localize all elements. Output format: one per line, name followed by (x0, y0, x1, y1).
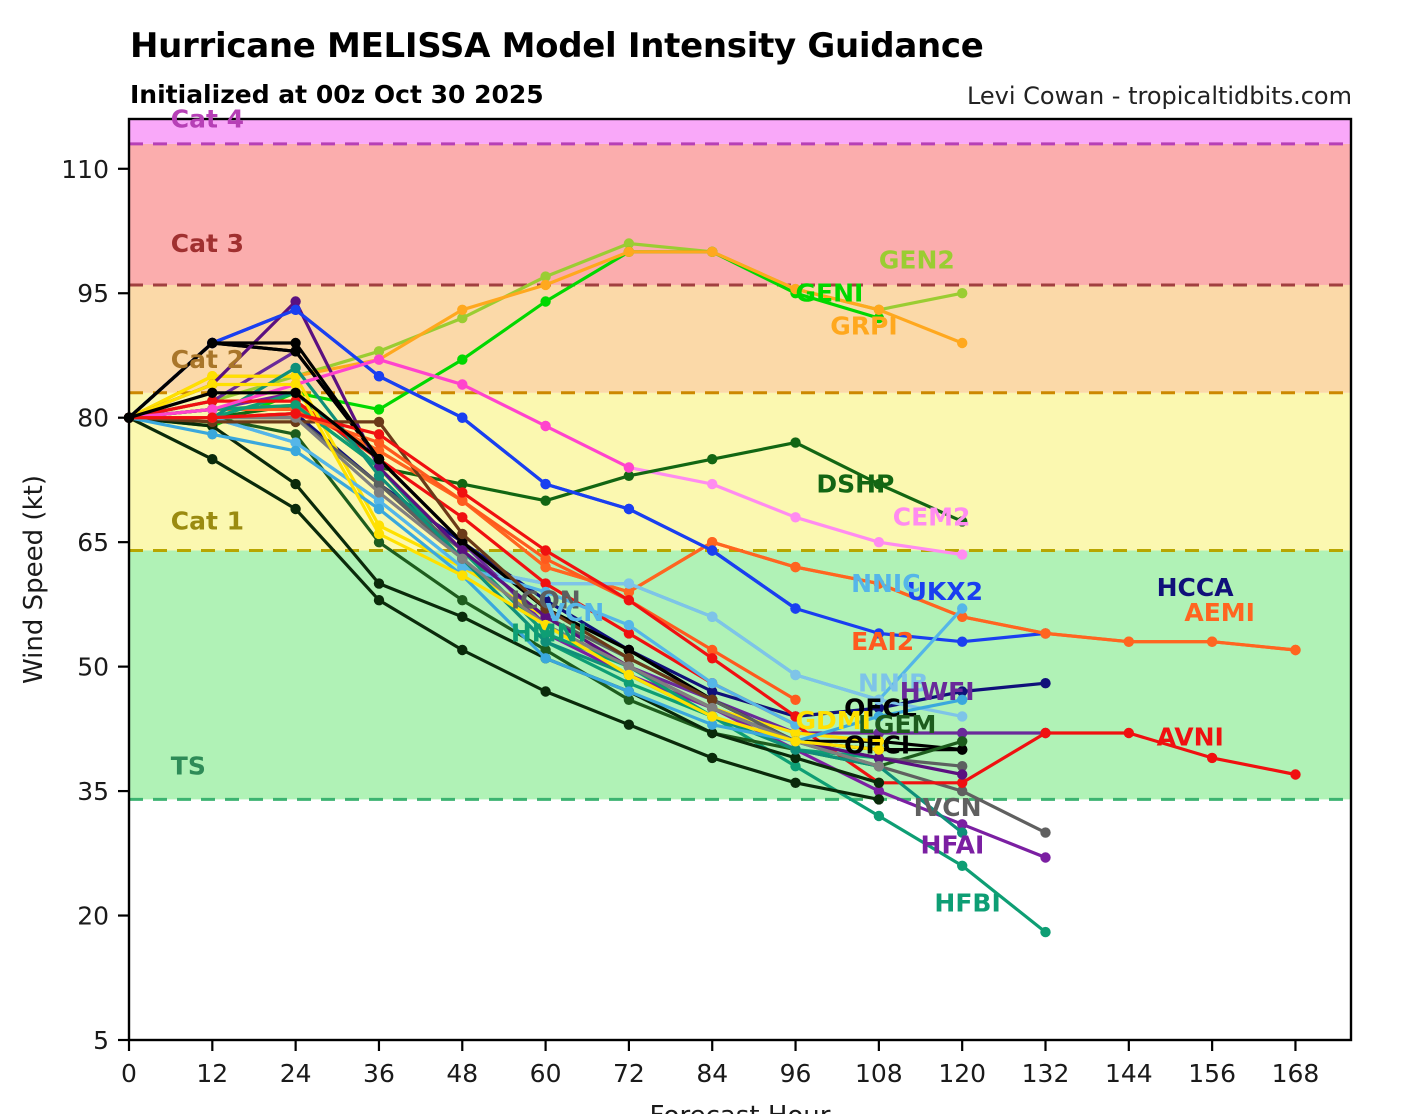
series-point (374, 471, 384, 481)
series-point (457, 413, 467, 423)
series-point (540, 653, 550, 663)
series-point (707, 545, 717, 555)
series-label-IVCN: IVCN (914, 793, 982, 822)
series-point (1124, 637, 1134, 647)
series-point (707, 479, 717, 489)
series-point (790, 562, 800, 572)
category-label-cat-3: Cat 3 (171, 229, 244, 258)
series-point (540, 421, 550, 431)
series-point (457, 612, 467, 622)
y-tick-label: 65 (77, 528, 109, 557)
series-point (790, 603, 800, 613)
series-point (1207, 637, 1217, 647)
series-point (290, 504, 300, 514)
y-tick-label: 110 (61, 155, 109, 184)
x-tick-label: 96 (780, 1059, 812, 1088)
series-point (707, 653, 717, 663)
x-tick-label: 48 (446, 1059, 478, 1088)
series-label-HFAI: HFAI (921, 830, 985, 859)
series-point (457, 554, 467, 564)
series-point (790, 695, 800, 705)
series-label-NNIC: NNIC (851, 569, 921, 598)
x-tick-label: 12 (196, 1059, 228, 1088)
series-label-CEM2: CEM2 (893, 503, 971, 532)
x-axis-label: Forecast Hour (650, 1101, 831, 1114)
series-label-GEN2: GEN2 (879, 245, 955, 274)
series-point (290, 363, 300, 373)
series-point (624, 578, 634, 588)
series-point (957, 288, 967, 298)
category-label-cat-2: Cat 2 (171, 345, 244, 374)
category-label-cat-4: Cat 4 (171, 104, 244, 133)
series-point (707, 678, 717, 688)
series-label-AEMI: AEMI (1184, 598, 1255, 627)
series-point (957, 549, 967, 559)
series-point (624, 720, 634, 730)
y-tick-label: 5 (93, 1026, 109, 1055)
series-point (374, 429, 384, 439)
series-point (374, 529, 384, 539)
series-point (207, 429, 217, 439)
series-label-VCN: VCN (546, 598, 605, 627)
x-tick-label: 108 (855, 1059, 903, 1088)
series-point (457, 305, 467, 315)
y-tick-label: 50 (77, 653, 109, 682)
series-point (624, 595, 634, 605)
category-label-ts: TS (171, 751, 206, 780)
series-point (1290, 769, 1300, 779)
series-point (290, 479, 300, 489)
y-tick-label: 20 (77, 902, 109, 931)
x-tick-label: 72 (613, 1059, 645, 1088)
series-label-GRPI: GRPI (830, 312, 897, 341)
series-point (957, 637, 967, 647)
series-point (957, 736, 967, 746)
series-point (457, 487, 467, 497)
series-point (540, 686, 550, 696)
category-label-cat-1: Cat 1 (171, 507, 244, 536)
series-point (624, 247, 634, 257)
series-point (790, 437, 800, 447)
series-point (207, 388, 217, 398)
series-point (624, 462, 634, 472)
series-point (790, 670, 800, 680)
series-point (1290, 645, 1300, 655)
series-point (374, 578, 384, 588)
series-point (957, 711, 967, 721)
series-label-GENI: GENI (796, 279, 864, 308)
series-point (790, 512, 800, 522)
series-point (374, 404, 384, 414)
series-point (707, 711, 717, 721)
series-point (457, 512, 467, 522)
x-tick-label: 60 (530, 1059, 562, 1088)
series-label-DSHP: DSHP (816, 469, 894, 498)
series-point (874, 778, 884, 788)
series-point (457, 595, 467, 605)
series-point (707, 247, 717, 257)
series-point (1040, 628, 1050, 638)
series-point (290, 388, 300, 398)
series-label-GDMI: GDMI (796, 706, 871, 735)
series-point (957, 861, 967, 871)
series-point (374, 454, 384, 464)
band-cat-4 (129, 119, 1351, 144)
series-point (1207, 753, 1217, 763)
series-point (1040, 678, 1050, 688)
series-point (457, 354, 467, 364)
series-point (457, 379, 467, 389)
x-tick-label: 156 (1188, 1059, 1236, 1088)
series-point (457, 645, 467, 655)
series-point (457, 570, 467, 580)
series-point (790, 778, 800, 788)
series-point (374, 595, 384, 605)
chart-root: Hurricane MELISSA Model Intensity Guidan… (0, 0, 1410, 1114)
x-tick-label: 144 (1105, 1059, 1153, 1088)
series-label-EAI2: EAI2 (851, 627, 914, 656)
series-point (374, 354, 384, 364)
series-point (624, 620, 634, 630)
series-point (540, 545, 550, 555)
y-tick-label: 95 (77, 279, 109, 308)
series-point (874, 794, 884, 804)
x-tick-label: 120 (938, 1059, 986, 1088)
series-point (290, 408, 300, 418)
x-tick-label: 132 (1022, 1059, 1070, 1088)
series-point (1040, 728, 1050, 738)
series-point (290, 338, 300, 348)
series-point (374, 487, 384, 497)
series-point (374, 371, 384, 381)
series-point (1040, 927, 1050, 937)
x-tick-label: 24 (280, 1059, 312, 1088)
intensity-line-chart: 5203550658095110012243648607284961081201… (0, 0, 1410, 1114)
series-label-AVNI: AVNI (1157, 722, 1224, 751)
series-point (707, 612, 717, 622)
y-axis-label: Wind Speed (kt) (19, 475, 49, 684)
series-point (1040, 852, 1050, 862)
series-point (374, 504, 384, 514)
series-point (1040, 827, 1050, 837)
series-point (874, 811, 884, 821)
series-point (874, 537, 884, 547)
series-label-HFBI: HFBI (934, 888, 1000, 917)
series-point (540, 496, 550, 506)
series-point (957, 769, 967, 779)
series-point (540, 296, 550, 306)
band-cat-2 (129, 285, 1351, 393)
x-tick-label: 84 (696, 1059, 728, 1088)
y-tick-label: 35 (77, 777, 109, 806)
series-point (624, 670, 634, 680)
series-point (790, 736, 800, 746)
series-point (957, 338, 967, 348)
series-point (1124, 728, 1134, 738)
series-point (707, 454, 717, 464)
series-point (457, 529, 467, 539)
series-point (290, 305, 300, 315)
series-point (540, 479, 550, 489)
series-point (707, 753, 717, 763)
x-tick-label: 36 (363, 1059, 395, 1088)
series-label-HCCA: HCCA (1157, 573, 1235, 602)
series-point (290, 446, 300, 456)
series-point (874, 761, 884, 771)
series-point (207, 454, 217, 464)
x-tick-label: 168 (1272, 1059, 1320, 1088)
series-point (624, 504, 634, 514)
series-point (207, 413, 217, 423)
y-tick-label: 80 (77, 404, 109, 433)
series-point (540, 280, 550, 290)
series-point (624, 686, 634, 696)
x-tick-label: 0 (121, 1059, 137, 1088)
series-point (374, 417, 384, 427)
